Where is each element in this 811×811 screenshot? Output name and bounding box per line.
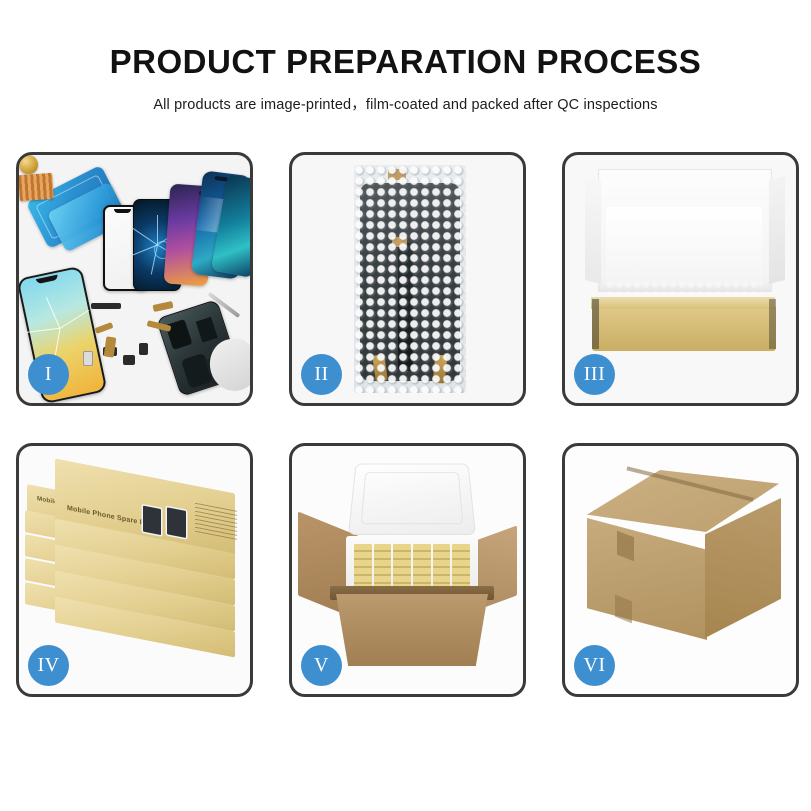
- speaker-coil-icon: [19, 155, 38, 174]
- step-badge-6: VI: [574, 645, 615, 686]
- earpiece-mesh-icon: [91, 303, 121, 309]
- header: PRODUCT PREPARATION PROCESS All products…: [0, 0, 811, 114]
- packed-box-column: [452, 544, 470, 590]
- camera-module-icon: [123, 355, 135, 365]
- box-artwork-screen-1: [143, 506, 161, 535]
- page-subtitle: All products are image-printed，film-coat…: [0, 93, 811, 114]
- process-step-panel-2: II: [289, 152, 526, 406]
- carton-front-face-icon: [587, 518, 707, 640]
- process-step-panel-6: VI: [562, 443, 799, 697]
- step-badge-5: V: [301, 645, 342, 686]
- box-corner-shadow-right: [769, 299, 776, 349]
- power-button-flex-icon: [95, 322, 114, 334]
- step-badge-2: II: [301, 354, 342, 395]
- kraft-box-base-icon: [592, 307, 776, 351]
- process-step-panel-3: III: [562, 152, 799, 406]
- packed-box-column: [354, 544, 372, 590]
- step-badge-3: III: [574, 354, 615, 395]
- logic-board-icon: [19, 173, 54, 201]
- bubble-wrap-texture-icon: [354, 165, 466, 393]
- flex-cable-icon: [152, 301, 173, 312]
- packed-box-column: [374, 544, 392, 590]
- sim-tray-icon: [83, 351, 93, 366]
- packed-yellow-boxes-icon: [354, 544, 470, 590]
- packed-box-column: [413, 544, 431, 590]
- bubble-wrapped-screen-icon: [354, 165, 466, 393]
- packed-box-column: [433, 544, 451, 590]
- process-step-grid: I II: [16, 152, 800, 697]
- foam-lid-icon: [348, 464, 476, 535]
- product-preparation-infographic: PRODUCT PREPARATION PROCESS All products…: [0, 0, 811, 811]
- box-artwork-screen-2: [167, 507, 186, 538]
- box-spec-lines: [195, 502, 237, 540]
- box-corner-shadow-left: [592, 299, 599, 349]
- process-step-panel-1: I: [16, 152, 253, 406]
- battery-connector-icon: [139, 343, 148, 355]
- step-badge-1: I: [28, 354, 69, 395]
- process-step-panel-4: Mobile Phone Spare Parts Mobile Phone Sp…: [16, 443, 253, 697]
- packed-box-column: [393, 544, 411, 590]
- carton-body-icon: [336, 594, 488, 666]
- step-badge-4: IV: [28, 645, 69, 686]
- process-step-panel-5: V: [289, 443, 526, 697]
- white-foam-sheet-icon: [606, 207, 762, 285]
- page-title: PRODUCT PREPARATION PROCESS: [0, 44, 811, 80]
